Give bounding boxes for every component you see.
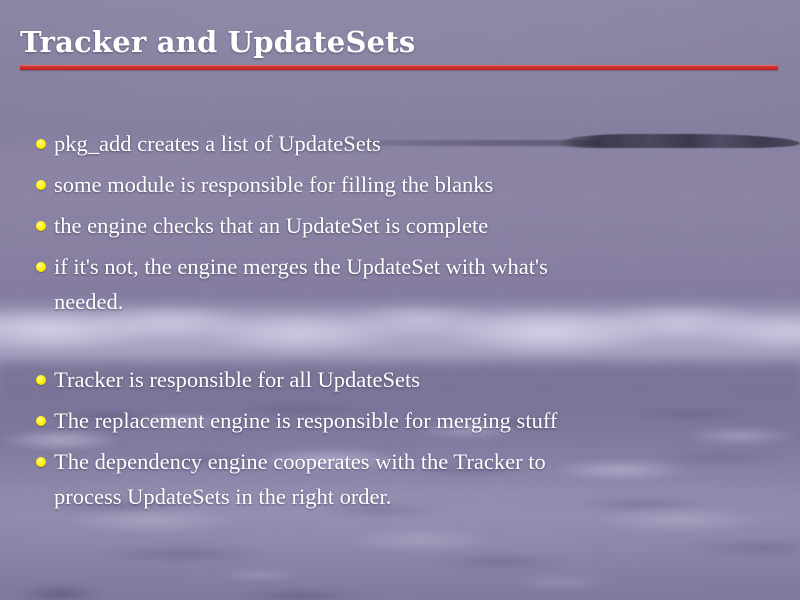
list-item-label: Tracker is responsible for all UpdateSet… (54, 362, 770, 397)
list-item-label: some module is responsible for filling t… (54, 167, 770, 202)
bullet-dot-icon (36, 457, 46, 467)
list-item: The dependency engine cooperates with th… (30, 444, 770, 514)
bullet-dot-icon (36, 416, 46, 426)
list-item: some module is responsible for filling t… (30, 167, 770, 202)
list-item: The replacement engine is responsible fo… (30, 403, 770, 438)
slide-title: Tracker and UpdateSets (20, 24, 780, 60)
bullet-dot-icon (36, 139, 46, 149)
list-item: Tracker is responsible for all UpdateSet… (30, 362, 770, 397)
list-item: the engine checks that an UpdateSet is c… (30, 208, 770, 243)
list-item-label: pkg_add creates a list of UpdateSets (54, 126, 770, 161)
bullet-dot-icon (36, 262, 46, 272)
bullet-group-2: Tracker is responsible for all UpdateSet… (30, 362, 770, 514)
bullet-dot-icon (36, 221, 46, 231)
presentation-slide: Tracker and UpdateSets pkg_add creates a… (0, 0, 800, 600)
list-item: if it's not, the engine merges the Updat… (30, 249, 770, 319)
list-item: pkg_add creates a list of UpdateSets (30, 126, 770, 161)
slide-content: Tracker and UpdateSets pkg_add creates a… (0, 0, 800, 600)
list-item-label: The replacement engine is responsible fo… (54, 403, 770, 438)
list-item-label: The dependency engine cooperates with th… (54, 444, 770, 514)
list-item-label: if it's not, the engine merges the Updat… (54, 249, 770, 319)
bullet-dot-icon (36, 180, 46, 190)
list-item-label: the engine checks that an UpdateSet is c… (54, 208, 770, 243)
bullet-dot-icon (36, 375, 46, 385)
bullet-group-1: pkg_add creates a list of UpdateSets som… (30, 126, 770, 319)
bullet-group-separator (30, 325, 770, 362)
title-underline-rule (20, 65, 778, 70)
bullet-list-container: pkg_add creates a list of UpdateSets som… (30, 126, 770, 520)
